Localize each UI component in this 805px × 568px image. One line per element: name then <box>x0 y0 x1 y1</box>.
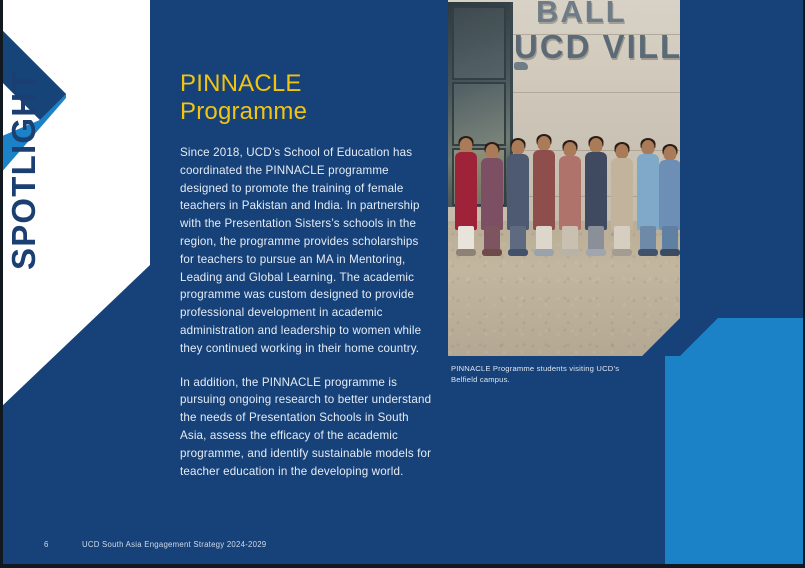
body-paragraph-2: In addition, the PINNACLE programme is p… <box>180 374 432 481</box>
canvas-edge-bottom <box>0 564 805 568</box>
person <box>454 138 478 256</box>
cctv-camera-icon <box>514 62 528 70</box>
accent-block <box>665 356 805 568</box>
body-paragraph-1: Since 2018, UCD’s School of Education ha… <box>180 144 432 358</box>
person <box>506 140 530 256</box>
building-sign-upper: BALL <box>536 0 627 30</box>
person <box>584 138 608 256</box>
building-sign-ucd-village: UCD VILLAGE <box>514 28 680 66</box>
canvas-edge-left <box>0 0 3 568</box>
page-title: PINNACLE Programme <box>180 70 432 126</box>
person <box>532 136 556 256</box>
person <box>636 140 660 256</box>
spotlight-label: SPOTLIGHT <box>0 60 48 270</box>
person <box>480 144 504 256</box>
page-canvas: BALL UCD VILLAGE <box>0 0 805 568</box>
person <box>558 142 582 256</box>
person <box>610 144 634 256</box>
footer-page-number: 6 <box>44 540 82 549</box>
photo-contents: BALL UCD VILLAGE <box>448 0 680 356</box>
page-footer: 6 UCD South Asia Engagement Strategy 202… <box>44 540 266 549</box>
footer-document-title: UCD South Asia Engagement Strategy 2024-… <box>82 540 266 549</box>
photo-caption: PINNACLE Programme students visiting UCD… <box>451 364 641 385</box>
students-group <box>448 71 680 256</box>
spotlight-photo: BALL UCD VILLAGE <box>448 0 680 356</box>
article-text-column: PINNACLE Programme Since 2018, UCD’s Sch… <box>180 70 432 480</box>
person <box>658 146 680 256</box>
